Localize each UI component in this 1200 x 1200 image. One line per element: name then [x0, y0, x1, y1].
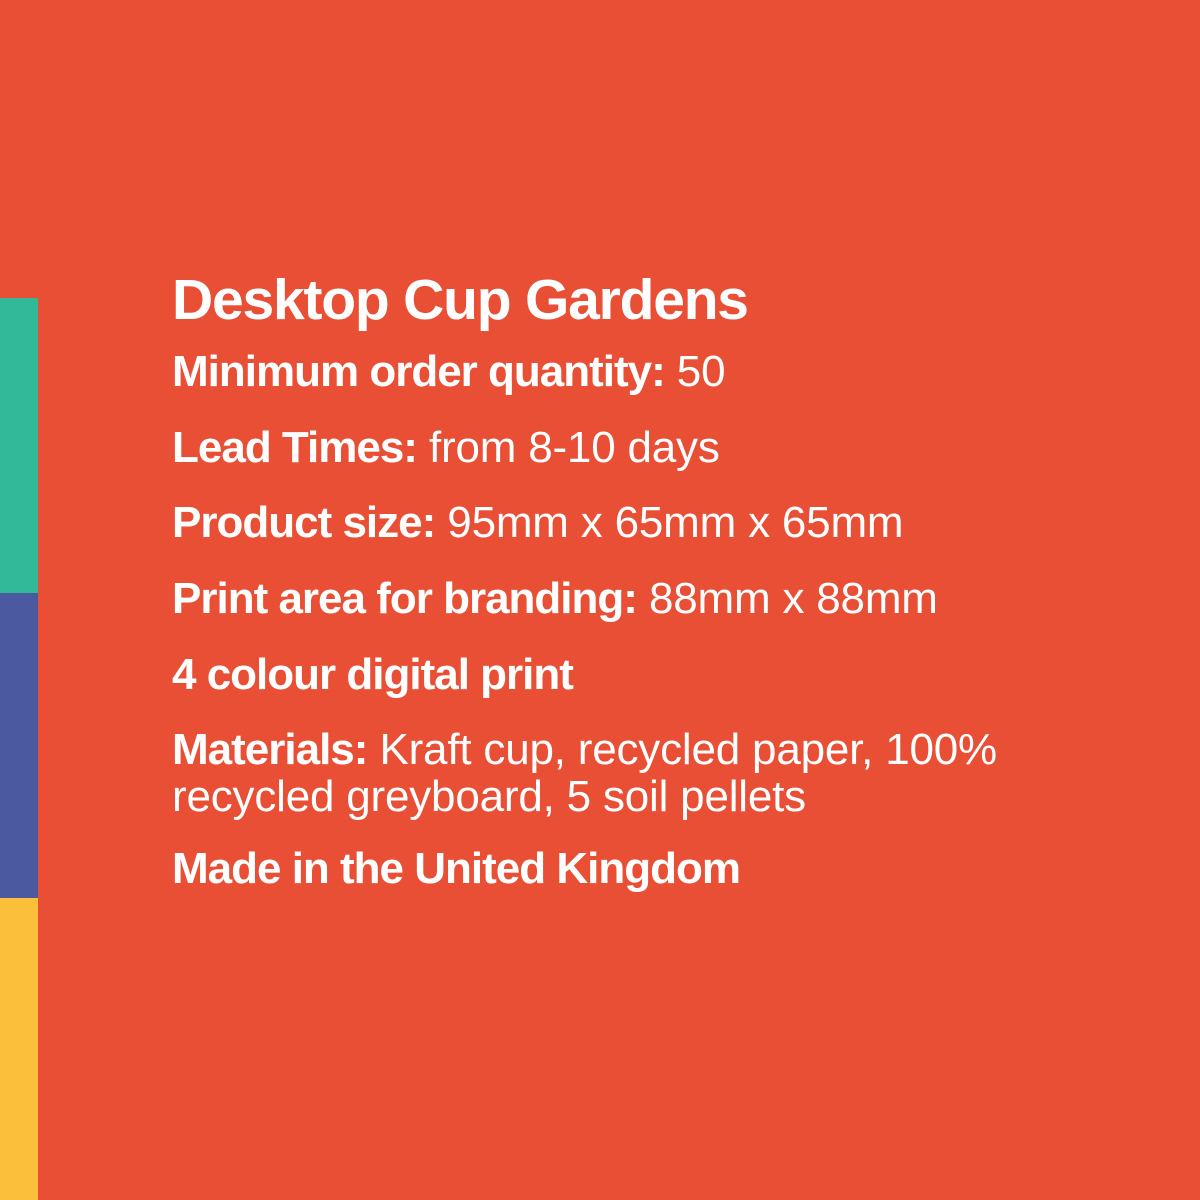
spec-row-lead-times: Lead Times: from 8-10 days — [172, 425, 1132, 472]
spec-label: 4 colour digital print — [172, 650, 573, 699]
spec-value: 88mm x 88mm — [637, 574, 938, 623]
edge-bar-blue — [0, 593, 38, 898]
spec-label: Lead Times: — [172, 423, 417, 472]
edge-bar-teal — [0, 298, 38, 593]
spec-row-product-size: Product size: 95mm x 65mm x 65mm — [172, 500, 1132, 547]
spec-label: Made in the United Kingdom — [172, 844, 740, 893]
spec-label: Minimum order quantity: — [172, 347, 665, 396]
page-title: Desktop Cup Gardens — [172, 272, 1132, 329]
spec-value: from 8-10 days — [417, 423, 720, 472]
spec-label: Materials: — [172, 725, 367, 774]
edge-bar-yellow — [0, 898, 38, 1200]
spec-row-print-area-for-branding: Print area for branding: 88mm x 88mm — [172, 576, 1132, 623]
spec-row-materials: Materials: Kraft cup, recycled paper, 10… — [172, 727, 1077, 820]
spec-label: Print area for branding: — [172, 574, 637, 623]
spec-value: 95mm x 65mm x 65mm — [435, 498, 903, 547]
spec-value: 50 — [665, 347, 726, 396]
edge-colour-bars — [0, 0, 38, 1200]
spec-row-made-in: Made in the United Kingdom — [172, 846, 1132, 893]
spec-row-minimum-order-quantity: Minimum order quantity: 50 — [172, 349, 1132, 396]
spec-label: Product size: — [172, 498, 435, 547]
spec-row-colour-digital-print: 4 colour digital print — [172, 652, 1132, 699]
spec-text-block: Desktop Cup Gardens Minimum order quanti… — [172, 272, 1132, 893]
product-spec-poster: Desktop Cup Gardens Minimum order quanti… — [0, 0, 1200, 1200]
